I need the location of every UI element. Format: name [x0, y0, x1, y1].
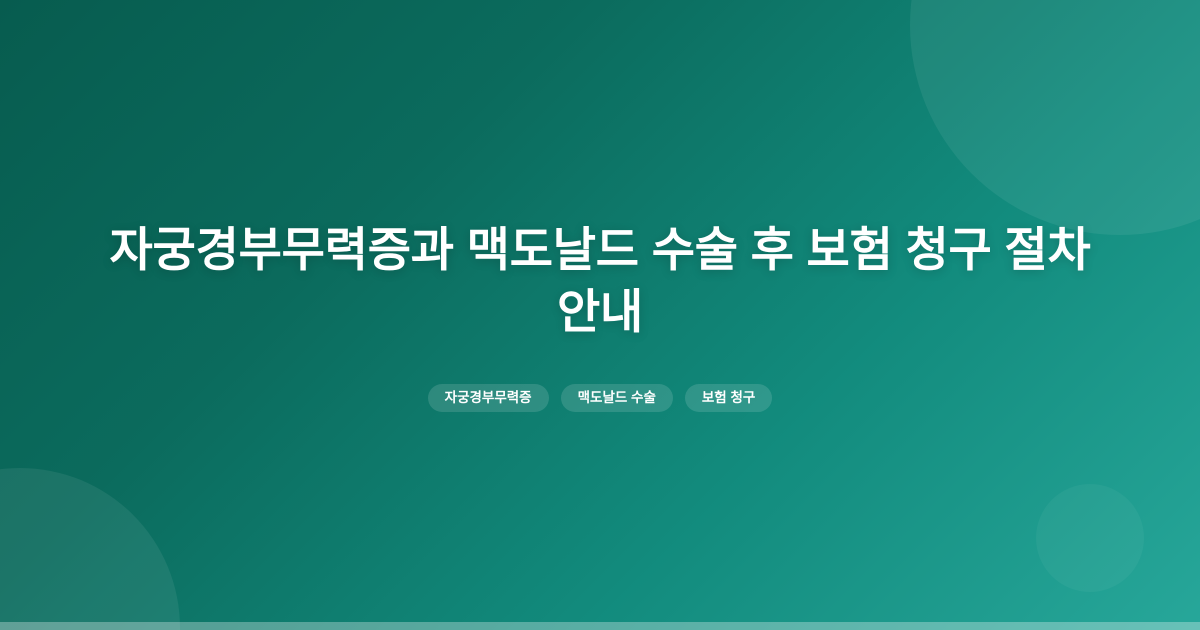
tag-pill-1[interactable]: 자궁경부무력증	[428, 384, 549, 412]
og-card: 자궁경부무력증과 맥도날드 수술 후 보험 청구 절차 안내 자궁경부무력증 맥…	[0, 0, 1200, 630]
tag-list: 자궁경부무력증 맥도날드 수술 보험 청구	[428, 384, 773, 412]
card-content: 자궁경부무력증과 맥도날드 수술 후 보험 청구 절차 안내 자궁경부무력증 맥…	[0, 0, 1200, 630]
tag-pill-3[interactable]: 보험 청구	[685, 384, 772, 412]
tag-pill-2[interactable]: 맥도날드 수술	[561, 384, 673, 412]
page-title: 자궁경부무력증과 맥도날드 수술 후 보험 청구 절차 안내	[86, 219, 1114, 344]
bottom-accent-bar	[0, 622, 1200, 630]
